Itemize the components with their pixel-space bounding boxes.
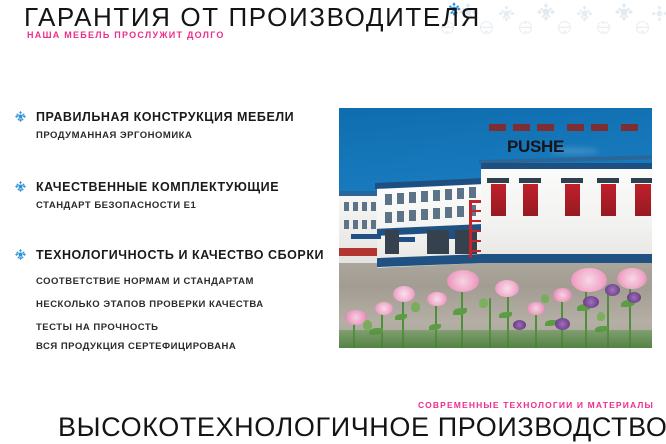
snowflake-ornament-icon: [614, 2, 634, 22]
feature-title: ПРАВИЛЬНАЯ КОНСТРУКЦИЯ МЕБЕЛИ: [36, 110, 294, 124]
red-door: [523, 184, 538, 216]
foliage-mass: [339, 330, 652, 348]
list-item: ТЕСТЫ НА ПРОЧНОСТЬ: [36, 322, 264, 334]
pink-flower-bloom: [571, 268, 607, 292]
far-building-base: [339, 248, 381, 256]
flower-foreground: [339, 268, 652, 348]
window: [353, 202, 358, 211]
red-door: [601, 184, 616, 216]
clerestory-window: [591, 124, 608, 131]
window: [445, 189, 452, 200]
feature-subtitle: СТАНДАРТ БЕЗОПАСНОСТИ Е1: [14, 200, 279, 212]
pink-flower-bloom: [527, 302, 545, 315]
window: [457, 188, 464, 199]
loading-bay: [385, 230, 399, 254]
window: [371, 202, 376, 211]
red-door: [565, 184, 580, 216]
hall-base-band: [481, 254, 652, 263]
flower-leaf: [453, 308, 467, 315]
window: [433, 208, 440, 219]
flower-bud: [541, 294, 549, 303]
pink-flower-bloom: [617, 268, 647, 289]
page-title: ГАРАНТИЯ ОТ ПРОИЗВОДИТЕЛЯ: [24, 4, 481, 31]
slide-root: ГАРАНТИЯ ОТ ПРОИЗВОДИТЕЛЯ НАША МЕБЕЛЬ ПР…: [0, 0, 666, 444]
snowflake-ornament-icon: [556, 19, 573, 36]
window: [362, 202, 367, 211]
purple-flower-bloom: [555, 318, 570, 330]
window: [353, 220, 358, 229]
feature-title: ТЕХНОЛОГИЧНОСТЬ И КАЧЕСТВО СБОРКИ: [36, 248, 324, 262]
door-header: [487, 178, 509, 183]
hall-roof: [481, 163, 652, 169]
flower-bud: [363, 320, 372, 330]
list-item: НЕСКОЛЬКО ЭТАПОВ ПРОВЕРКИ КАЧЕСТВА: [36, 299, 264, 311]
window: [397, 211, 404, 222]
snowflake-ornament-icon: [497, 4, 516, 23]
snowflake-bullet-icon: [14, 248, 27, 261]
slide-header: ГАРАНТИЯ ОТ ПРОИЗВОДИТЕЛЯ НАША МЕБЕЛЬ ПР…: [0, 0, 666, 50]
factory-photo: PUSHE: [339, 108, 652, 348]
snowflake-ornament-icon: [536, 2, 556, 22]
window: [371, 220, 376, 229]
window: [385, 194, 392, 205]
window: [409, 192, 416, 203]
window: [362, 220, 367, 229]
window: [457, 206, 464, 217]
pink-flower-bloom: [495, 280, 519, 297]
feature-heading: КАЧЕСТВЕННЫЕ КОМПЛЕКТУЮЩИЕ: [14, 178, 279, 196]
door-header: [631, 178, 652, 183]
pink-flower-bloom: [393, 286, 415, 302]
snowflake-bullet-icon: [14, 180, 27, 193]
window: [409, 210, 416, 221]
pink-flower-bloom: [553, 288, 572, 302]
footer-headline: ВЫСОКОТЕХНОЛОГИЧНОЕ ПРОИЗВОДСТВО: [58, 412, 666, 442]
footer-kicker: СОВРЕМЕННЫЕ ТЕХНОЛОГИИ И МАТЕРИАЛЫ: [418, 400, 654, 410]
window: [421, 191, 428, 202]
door-header: [561, 178, 583, 183]
window: [385, 212, 392, 223]
feature-title: КАЧЕСТВЕННЫЕ КОМПЛЕКТУЮЩИЕ: [36, 180, 279, 194]
snowflake-ornament-icon: [650, 4, 666, 23]
window: [344, 202, 349, 211]
list-item: ВСЯ ПРОДУКЦИЯ СЕРТЕФИЦИРОВАНА: [36, 341, 264, 353]
quality-sublist: СООТВЕТСТВИЕ НОРМАМ И СТАНДАРТАМ НЕСКОЛЬ…: [14, 276, 264, 360]
door-header: [597, 178, 619, 183]
list-item: СООТВЕТСТВИЕ НОРМАМ И СТАНДАРТАМ: [36, 276, 264, 288]
far-building-roof: [339, 191, 381, 196]
entrance-canopy: [351, 234, 381, 239]
feature-heading: ТЕХНОЛОГИЧНОСТЬ И КАЧЕСТВО СБОРКИ: [14, 246, 324, 264]
snowflake-bullet-icon: [14, 110, 27, 123]
flower-bud: [411, 302, 420, 312]
page-subtitle: НАША МЕБЕЛЬ ПРОСЛУЖИТ ДОЛГО: [27, 30, 225, 41]
red-door: [635, 184, 651, 216]
pink-flower-bloom: [375, 302, 393, 315]
flower-bud: [479, 298, 488, 308]
snowflake-ornament-icon: [634, 19, 651, 36]
feature-item: ПРАВИЛЬНАЯ КОНСТРУКЦИЯ МЕБЕЛИ ПРОДУМАННА…: [14, 108, 294, 142]
clerestory-window: [567, 124, 584, 131]
clerestory-window: [489, 124, 506, 131]
feature-item: ТЕХНОЛОГИЧНОСТЬ И КАЧЕСТВО СБОРКИ: [14, 246, 324, 264]
red-door: [491, 184, 506, 216]
window: [433, 190, 440, 201]
purple-flower-bloom: [605, 284, 620, 296]
window: [344, 220, 349, 229]
snowflake-ornament-icon: [575, 4, 594, 23]
pink-flower-bloom: [447, 270, 479, 292]
window: [445, 207, 452, 218]
purple-flower-bloom: [513, 320, 526, 330]
loading-bay: [427, 230, 449, 254]
feature-subtitle: ПРОДУМАННАЯ ЭРГОНОМИКА: [14, 130, 294, 142]
window: [421, 209, 428, 220]
door-header: [519, 178, 541, 183]
window: [469, 187, 476, 198]
snowflake-ornament-icon: [595, 19, 612, 36]
purple-flower-bloom: [583, 296, 599, 308]
purple-flower-bloom: [627, 292, 641, 303]
flower-leaf: [499, 312, 512, 318]
clerestory-window: [621, 124, 638, 131]
clerestory-window: [537, 124, 554, 131]
flower-bud: [597, 312, 605, 321]
pink-flower-bloom: [427, 292, 447, 306]
snowflake-ornament-icon: [517, 19, 534, 36]
clerestory-window: [513, 124, 530, 131]
building-sign: PUSHE: [507, 138, 564, 155]
feature-item: КАЧЕСТВЕННЫЕ КОМПЛЕКТУЮЩИЕ СТАНДАРТ БЕЗО…: [14, 178, 279, 212]
window: [397, 193, 404, 204]
flower-leaf: [395, 314, 407, 320]
feature-heading: ПРАВИЛЬНАЯ КОНСТРУКЦИЯ МЕБЕЛИ: [14, 108, 294, 126]
